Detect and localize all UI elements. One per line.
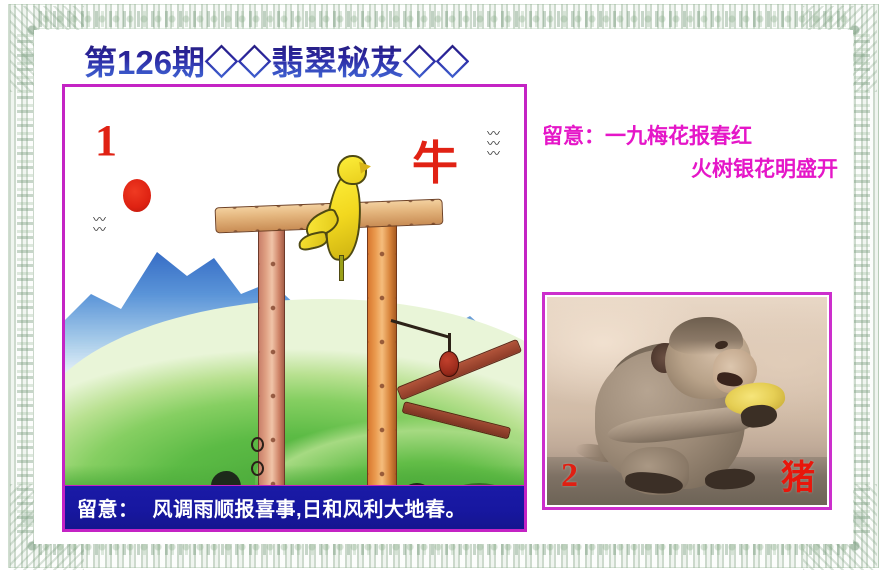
photo-panel[interactable]: 2 猪 (542, 292, 832, 510)
frame-band-left (17, 31, 33, 533)
main-panel-zodiac: 牛 (412, 127, 458, 193)
flying-birds-right-icon: 〰〰〰 (487, 129, 500, 159)
photo-panel-zodiac: 猪 (781, 450, 815, 499)
main-caption-bar: 留意： 风调雨顺报喜事,日和风利大地春。 (65, 485, 524, 529)
hanging-weight-icon (439, 351, 459, 377)
post-left-texture (259, 228, 284, 529)
rope-drop-line (448, 333, 451, 353)
wooden-post-left (258, 227, 285, 529)
photo-panel-number: 2 (561, 457, 578, 495)
main-panel-number: 1 (95, 115, 117, 166)
frame-band-top (39, 11, 848, 27)
content-area: 第126期◇◇翡翠秘芨◇◇ 〰〰 〰〰〰 1 牛 (34, 30, 853, 544)
main-caption-text: 风调雨顺报喜事,日和风利大地春。 (153, 493, 467, 522)
main-illustration-panel[interactable]: 〰〰 〰〰〰 1 牛 (62, 84, 527, 532)
poster-root: 第126期◇◇翡翠秘芨◇◇ 〰〰 〰〰〰 1 牛 (0, 0, 887, 582)
side-note-line-2: 火树银花明盛开 (542, 153, 842, 186)
page-title: 第126期◇◇翡翠秘芨◇◇ (84, 36, 469, 84)
red-sun-icon (123, 179, 151, 212)
wooden-post-right (367, 217, 397, 529)
post-ring-upper-icon (251, 437, 264, 452)
monkey-photo: 2 猪 (547, 297, 827, 505)
side-note-line-1: 留意：一九梅花报春红 (542, 120, 842, 153)
yellow-bird-beak (359, 160, 372, 173)
yellow-bird-leg (339, 255, 344, 281)
post-ring-lower-icon (251, 461, 264, 476)
main-caption-label: 留意： (77, 493, 139, 522)
frame-band-right (854, 31, 870, 533)
yellow-bird-wing-lower (297, 230, 330, 252)
illustration-canvas: 〰〰 〰〰〰 1 牛 (65, 87, 524, 529)
post-right-texture (368, 218, 396, 529)
side-note: 留意：一九梅花报春红 火树银花明盛开 (542, 120, 842, 186)
flying-birds-left-icon: 〰〰 (93, 215, 106, 235)
